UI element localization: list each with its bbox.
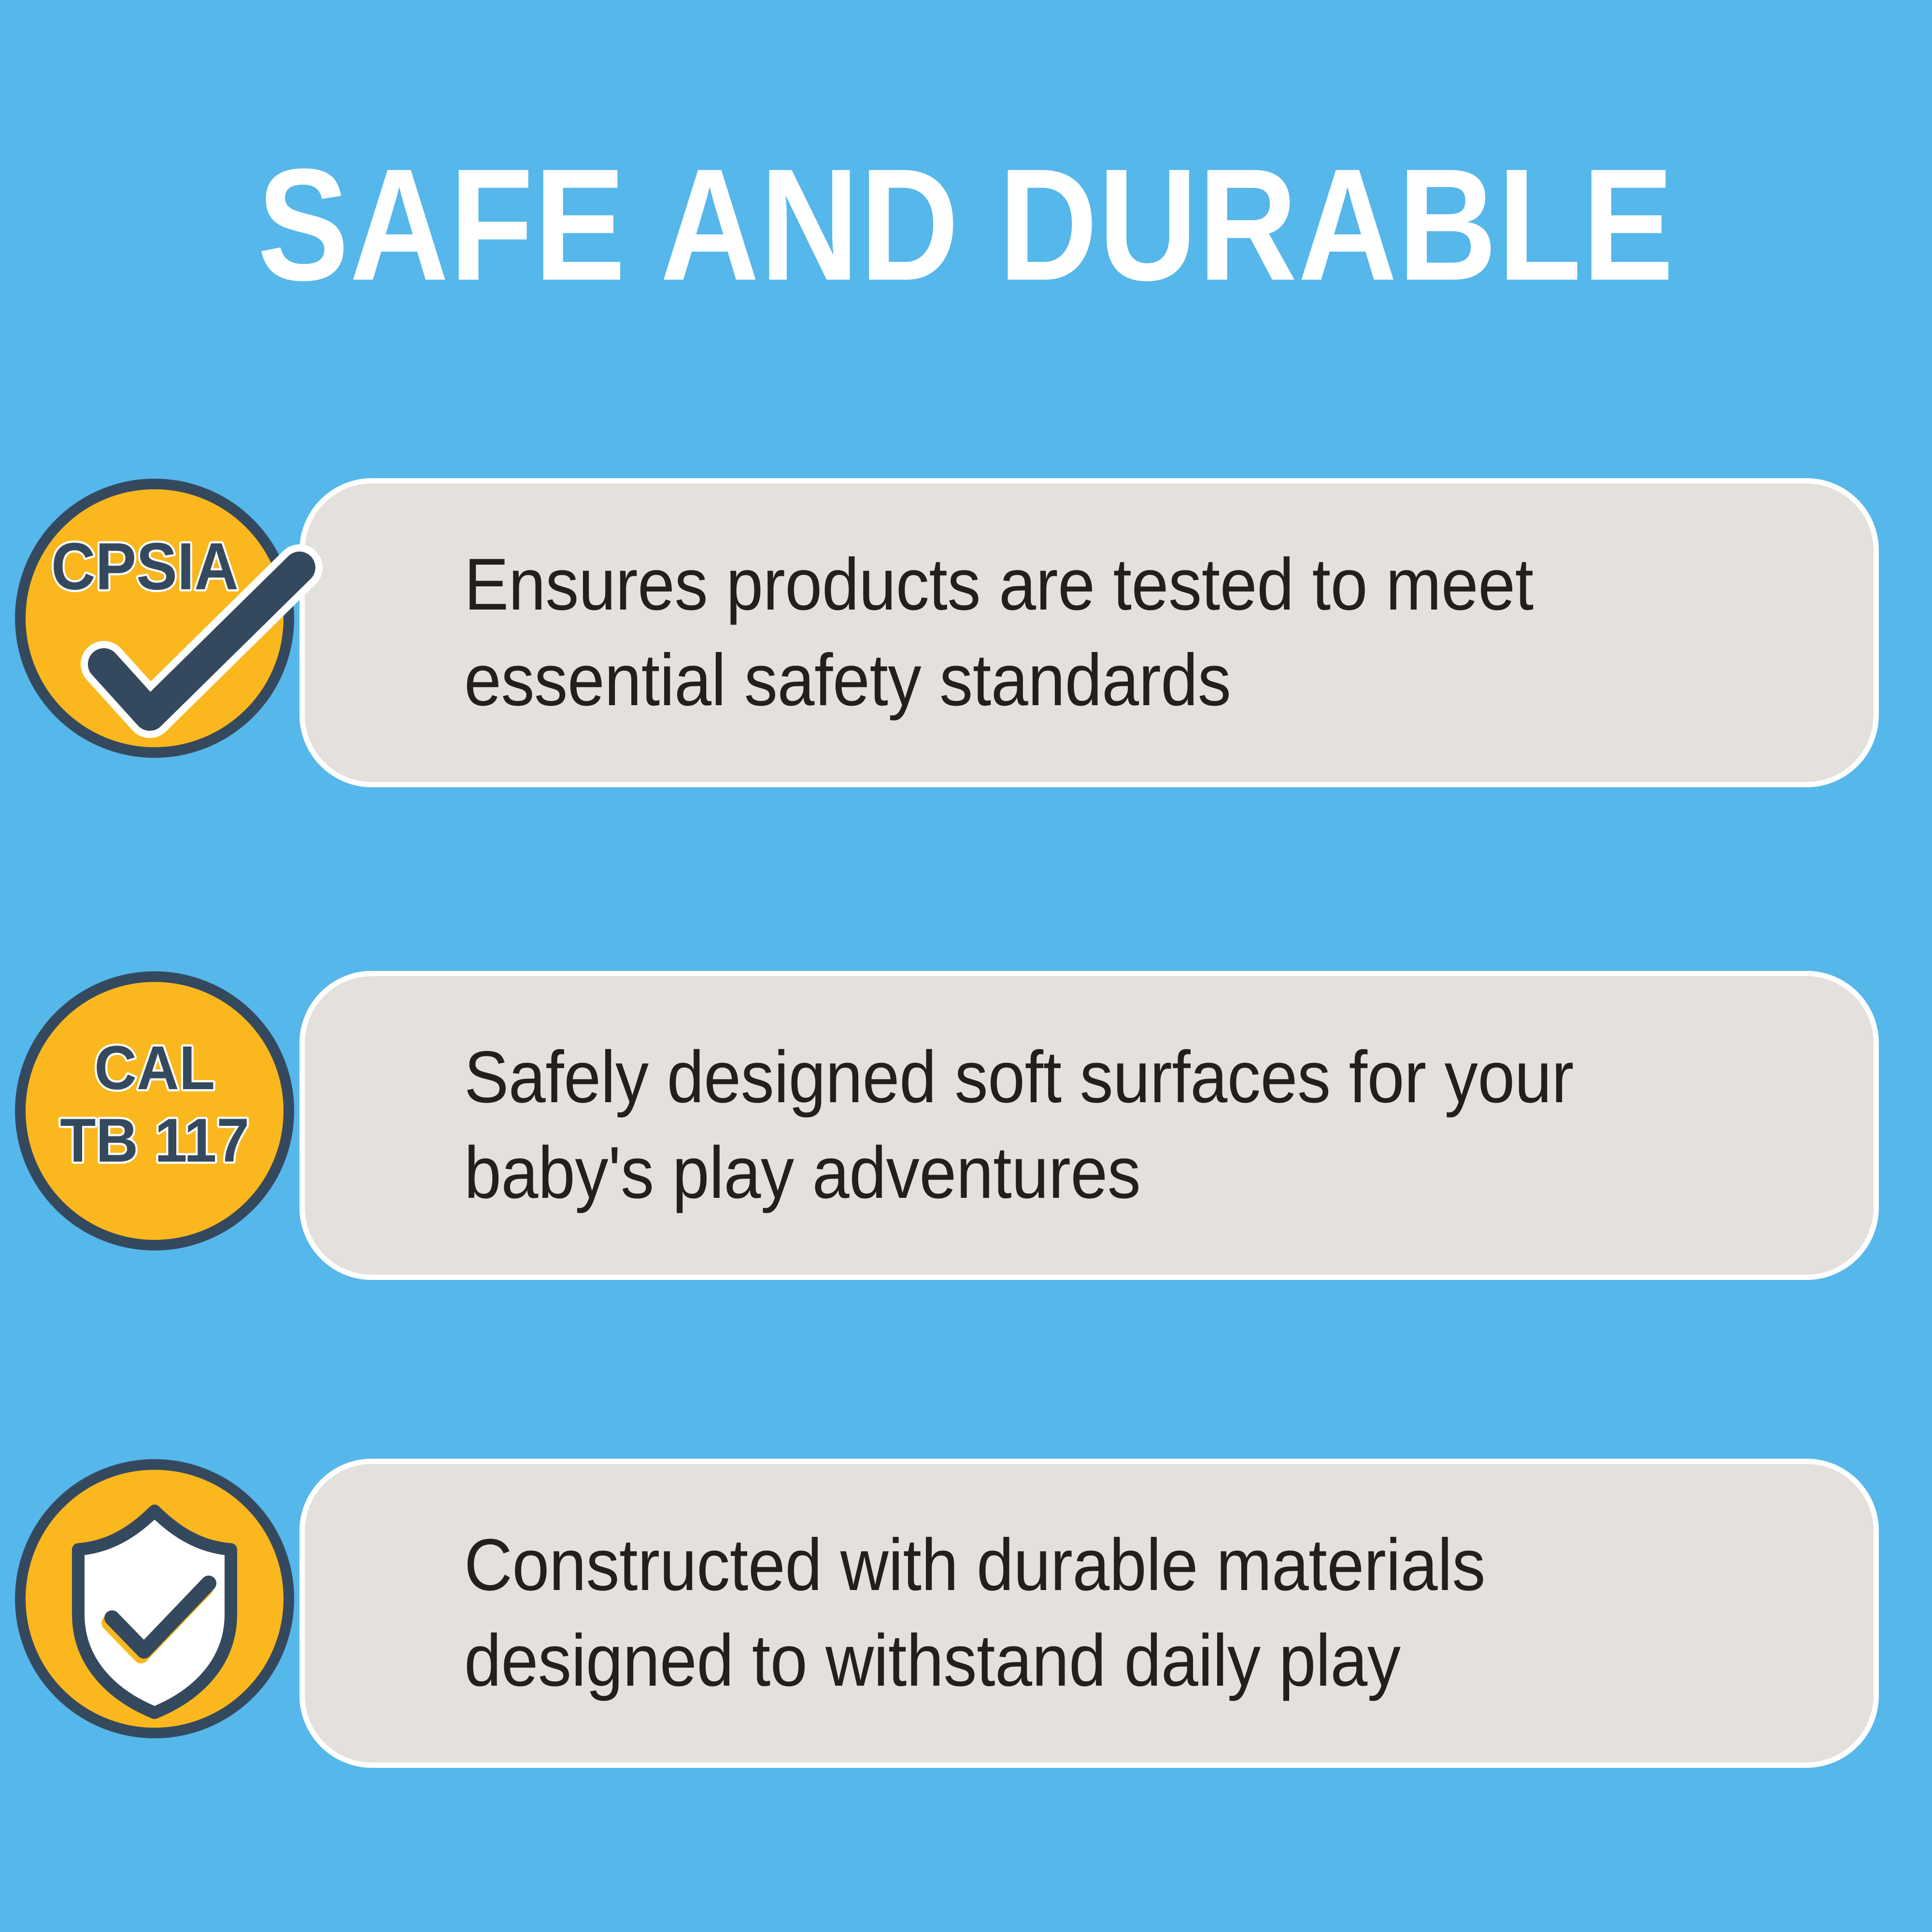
feature-pill-1: Ensures products are tested to meet esse… [299,478,1879,787]
badge-label-1-line-1: CPSIA [51,529,239,604]
feature-pill-2: Safely designed soft surfaces for your b… [299,971,1879,1280]
feature-row-cal-tb-117: Safely designed soft surfaces for your b… [0,956,1932,1294]
cal-tb-117-badge-icon: CAL TB 117 [0,956,309,1265]
page-title: SAFE AND DURABLE [135,145,1797,304]
feature-text-3: Constructed with durable materials desig… [464,1518,1716,1708]
feature-row-cpsia: Ensures products are tested to meet esse… [0,464,1932,802]
badge-label-2-line-2: TB 117 [60,1106,249,1175]
infographic-page: SAFE AND DURABLE Ensures products are te… [0,0,1932,1932]
feature-text-2: Safely designed soft surfaces for your b… [464,1030,1716,1221]
feature-pill-3: Constructed with durable materials desig… [299,1459,1879,1768]
cpsia-check-badge-icon: CPSIA [0,464,309,773]
shield-check-badge-icon [0,1444,309,1753]
feature-text-1: Ensures products are tested to meet esse… [464,537,1716,728]
badge-label-2-line-1: CAL [94,1034,215,1103]
feature-row-shield: Constructed with durable materials desig… [0,1444,1932,1782]
